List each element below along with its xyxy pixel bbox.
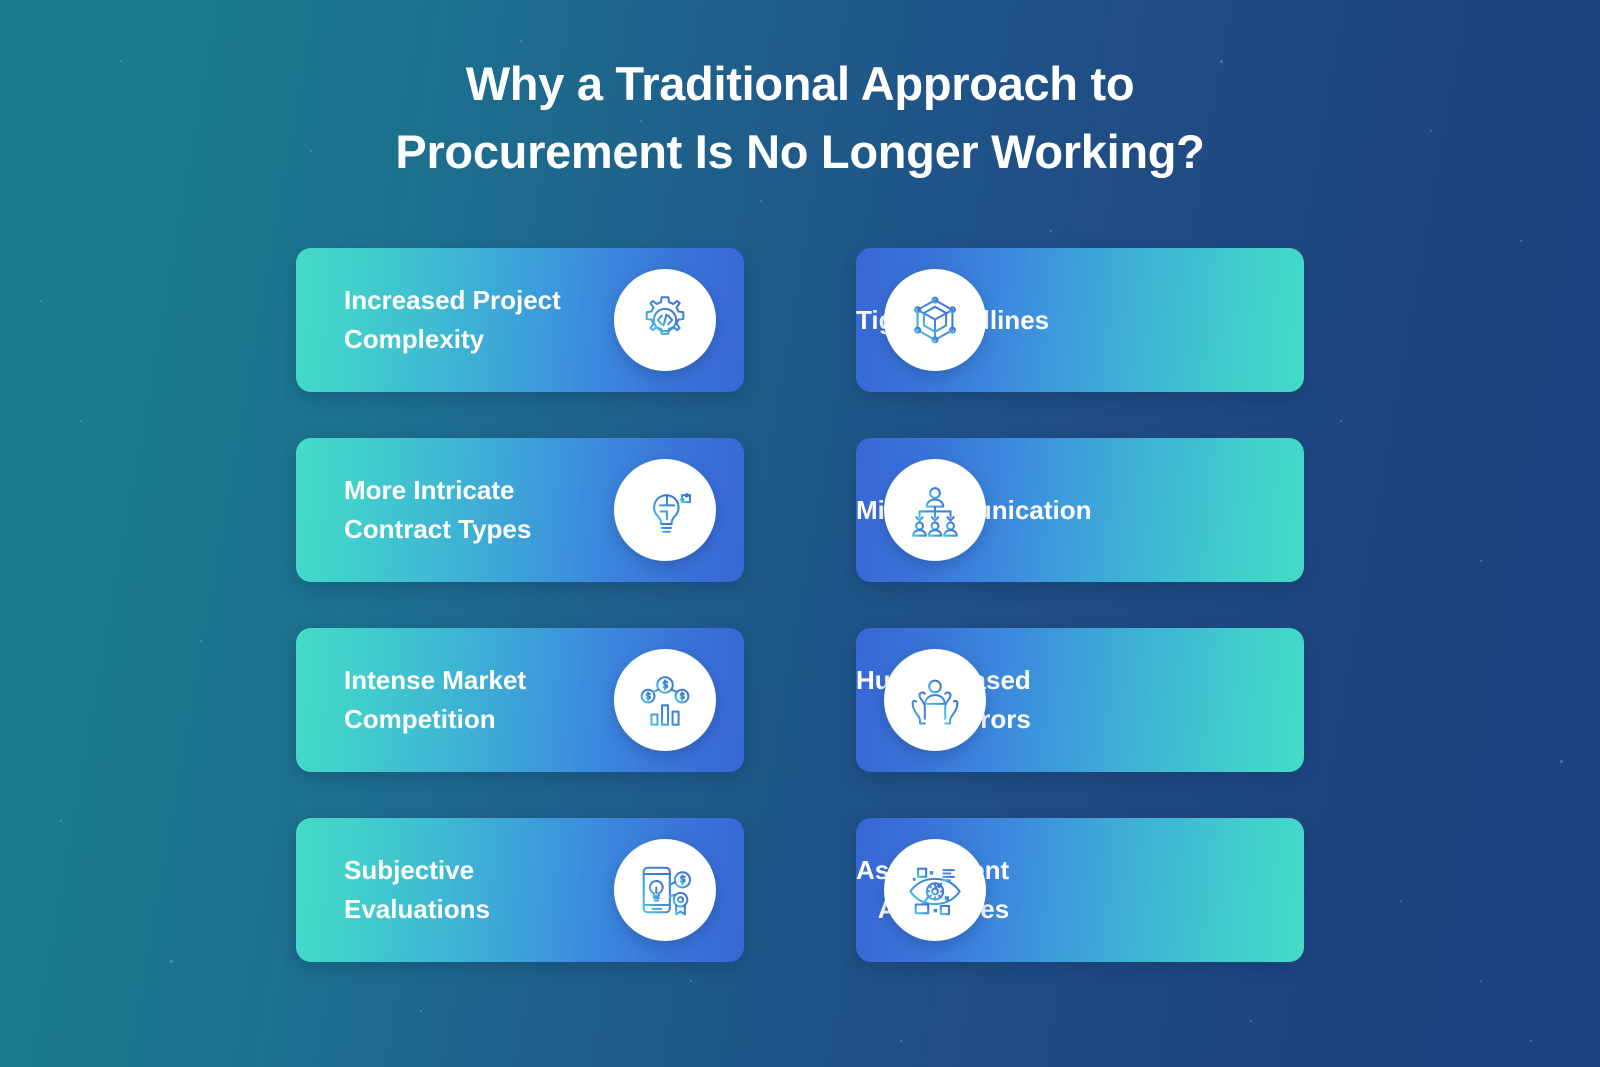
card-miscommunication[interactable]: Miscommunication — [856, 438, 1304, 582]
card-row: Subjective Evaluations — [296, 818, 1304, 962]
card-label: Increased Project Complexity — [344, 281, 561, 359]
card-label: More Intricate Contract Types — [344, 471, 531, 549]
card-row: More Intricate Contract Types Miscommuni… — [296, 438, 1304, 582]
card-intense-market-competition[interactable]: Intense Market Competition — [296, 628, 744, 772]
cube-network-icon — [884, 269, 986, 371]
page-title: Why a Traditional Approach to Procuremen… — [0, 50, 1600, 186]
org-hierarchy-icon — [884, 459, 986, 561]
card-label: Intense Market Competition — [344, 661, 526, 739]
infographic-page: Why a Traditional Approach to Procuremen… — [0, 0, 1600, 1067]
eye-data-icon — [884, 839, 986, 941]
card-assessment-anomalies[interactable]: Assessment Anomalies — [856, 818, 1304, 962]
puzzle-lightbulb-icon — [614, 459, 716, 561]
card-label: Subjective Evaluations — [344, 851, 490, 929]
money-chart-icon — [614, 649, 716, 751]
card-human-based-errors[interactable]: Human-Based Errors — [856, 628, 1304, 772]
card-increased-project-complexity[interactable]: Increased Project Complexity — [296, 248, 744, 392]
card-row: Intense Market Competition Human- — [296, 628, 1304, 772]
gear-code-icon — [614, 269, 716, 371]
card-grid: Increased Project Complexity Tight Deadl… — [296, 248, 1304, 962]
card-row: Increased Project Complexity Tight Deadl… — [296, 248, 1304, 392]
card-tight-deadlines[interactable]: Tight Deadlines — [856, 248, 1304, 392]
card-subjective-evaluations[interactable]: Subjective Evaluations — [296, 818, 744, 962]
title-line-2: Procurement Is No Longer Working? — [0, 118, 1600, 186]
hands-person-icon — [884, 649, 986, 751]
title-line-1: Why a Traditional Approach to — [0, 50, 1600, 118]
phone-idea-award-icon — [614, 839, 716, 941]
card-more-intricate-contract-types[interactable]: More Intricate Contract Types — [296, 438, 744, 582]
